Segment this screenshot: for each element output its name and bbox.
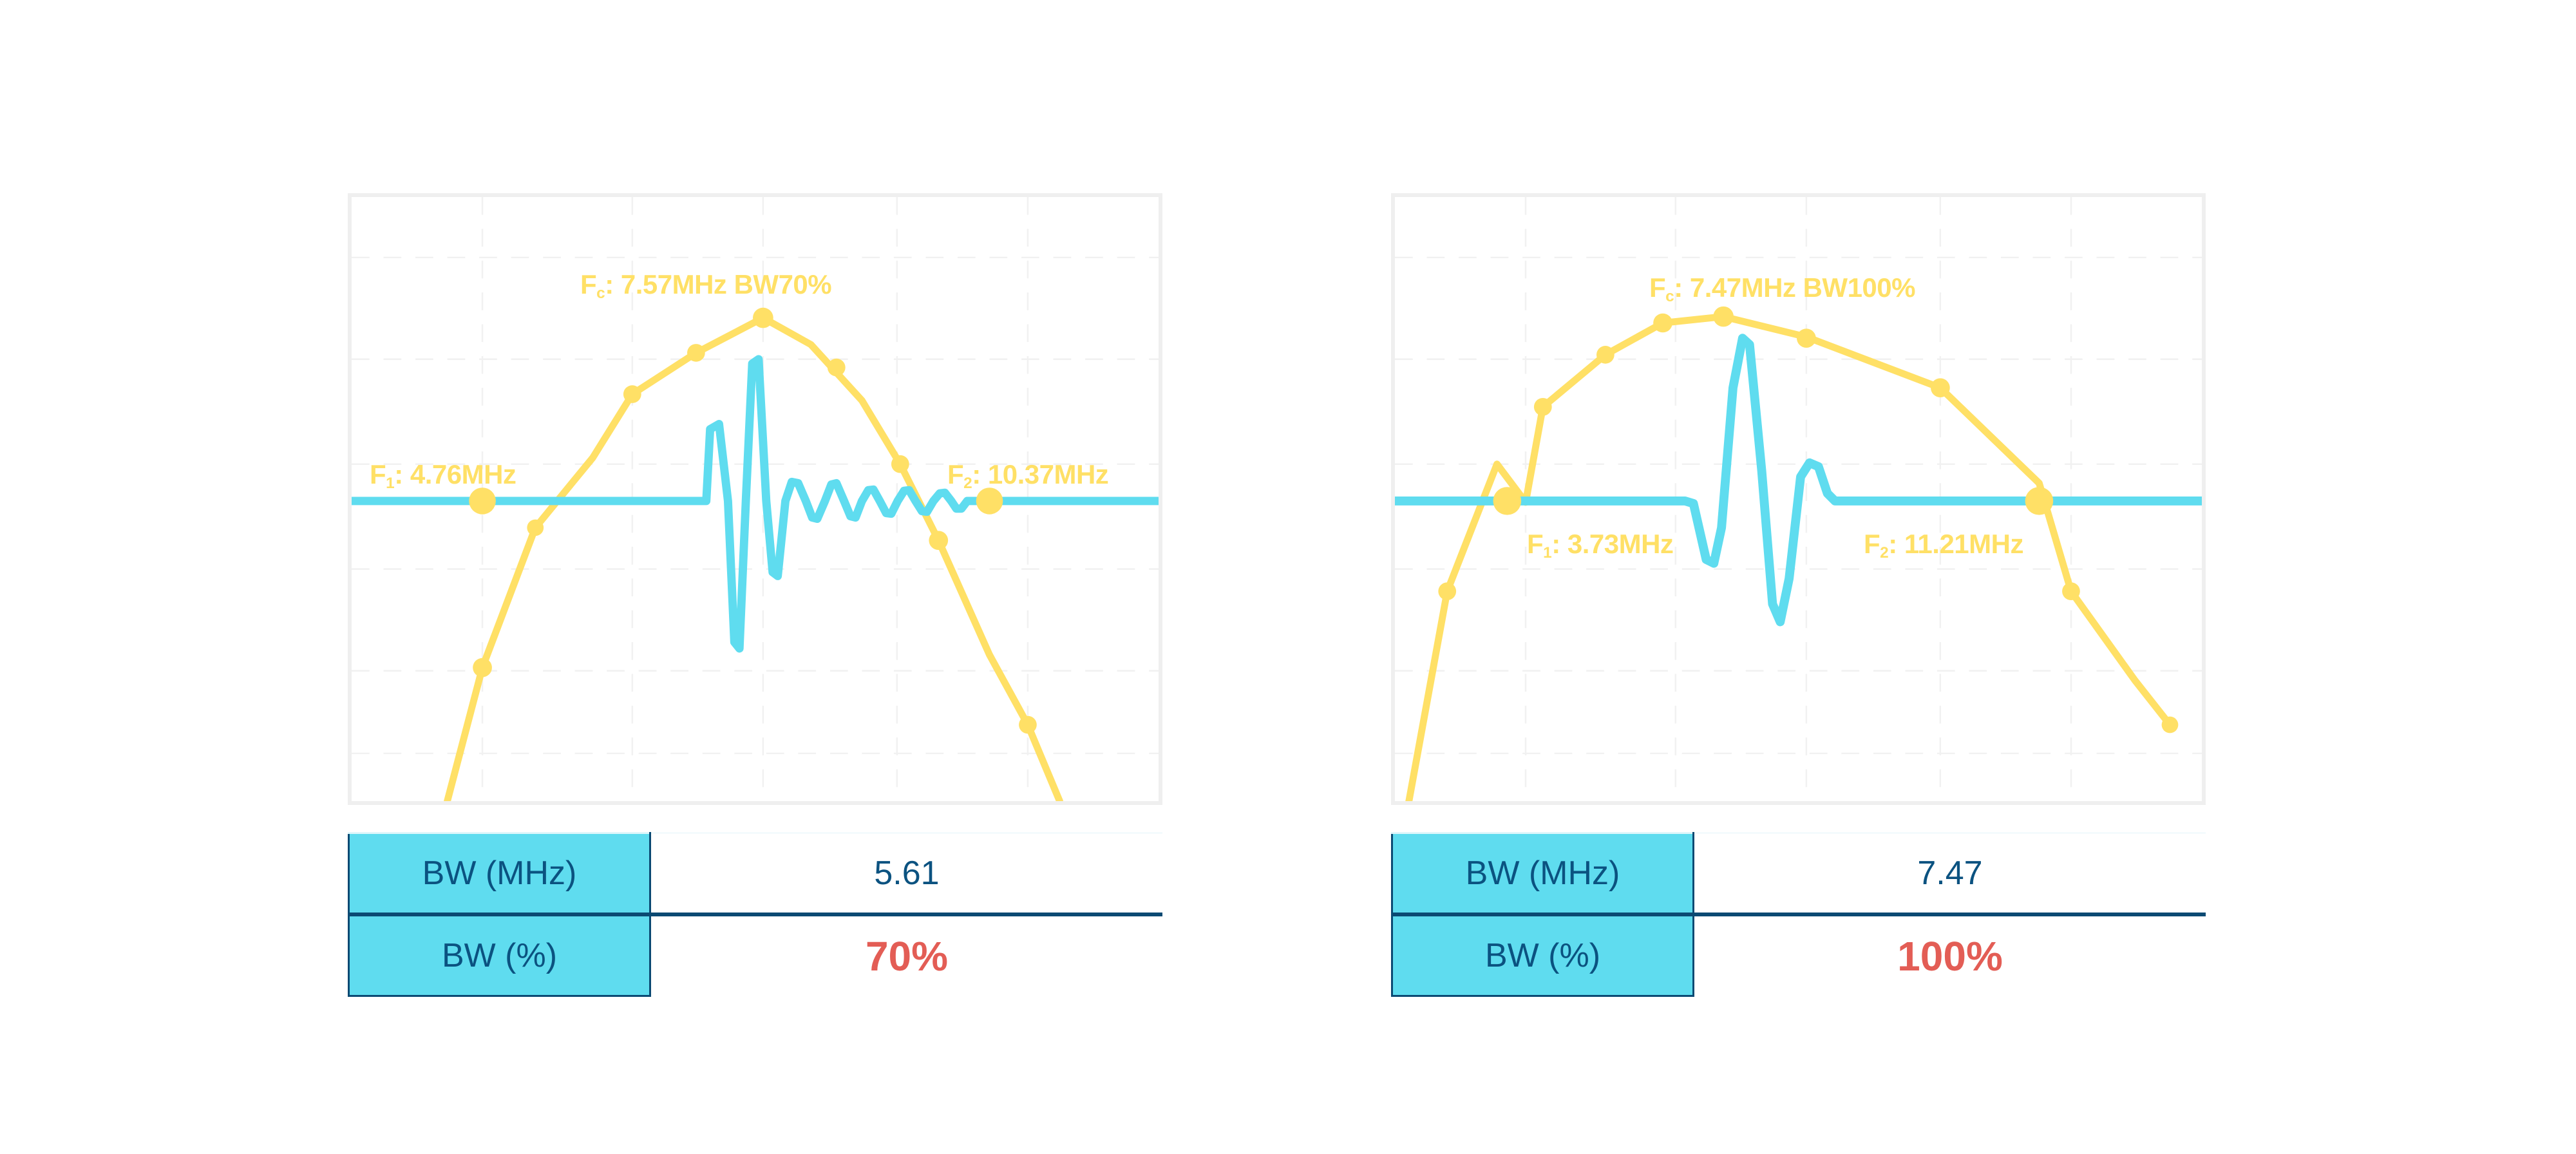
figure-canvas: Fc: 7.57MHz BW70% F1: 4.76MHz F2: 10.37M… bbox=[0, 0, 2576, 1154]
table-value-bw-mhz-left: 5.61 bbox=[650, 833, 1163, 915]
table-row: BW (MHz) 7.47 bbox=[1392, 833, 2206, 915]
table-value-bw-mhz-right: 7.47 bbox=[1694, 833, 2206, 915]
f1-node-right bbox=[1493, 487, 1522, 515]
table-row: BW (%) 100% bbox=[1392, 914, 2206, 996]
annotation-f2-sub-right: 2 bbox=[1880, 544, 1888, 562]
annotation-center-text-left: : 7.57MHz BW70% bbox=[605, 269, 831, 299]
annotation-center-sub-left: c bbox=[596, 285, 605, 302]
annotation-f1-text-right: : 3.73MHz bbox=[1551, 529, 1673, 559]
table-label-bw-mhz-left: BW (MHz) bbox=[349, 833, 650, 915]
annotation-center-prefix-left: F bbox=[580, 269, 596, 299]
annotation-f1-sub-left: 1 bbox=[386, 475, 394, 492]
annotation-f1-prefix-left: F bbox=[370, 459, 386, 489]
annotation-f2-prefix-right: F bbox=[1864, 529, 1880, 559]
annotation-center-frequency-right: Fc: 7.47MHz BW100% bbox=[1649, 274, 1915, 301]
annotation-f1-sub-right: 1 bbox=[1543, 544, 1551, 562]
table-value-bw-pct-left: 70% bbox=[650, 914, 1163, 996]
annotation-center-prefix-right: F bbox=[1649, 272, 1665, 303]
table-label-bw-pct-right: BW (%) bbox=[1392, 914, 1694, 996]
annotation-center-text-right: : 7.47MHz BW100% bbox=[1674, 272, 1915, 303]
f2-node-right bbox=[2025, 487, 2054, 515]
annotation-f2-text-right: : 11.21MHz bbox=[1888, 529, 2023, 559]
panel-right: Fc: 7.47MHz BW100% F1: 3.73MHz F2: 11.21… bbox=[1391, 193, 2206, 997]
table-label-bw-mhz-right: BW (MHz) bbox=[1392, 833, 1694, 915]
annotation-f2-sub-left: 2 bbox=[963, 475, 972, 492]
f2-node-left bbox=[976, 487, 1003, 514]
table-row: BW (MHz) 5.61 bbox=[349, 833, 1163, 915]
annotation-center-frequency-left: Fc: 7.57MHz BW70% bbox=[580, 271, 831, 298]
chart-frame-right: Fc: 7.47MHz BW100% F1: 3.73MHz F2: 11.21… bbox=[1391, 193, 2206, 805]
bandwidth-table-left: BW (MHz) 5.61 BW (%) 70% bbox=[348, 832, 1162, 997]
f1-node-left bbox=[469, 487, 496, 514]
table-value-bw-pct-right: 100% bbox=[1694, 914, 2206, 996]
table-label-bw-pct-left: BW (%) bbox=[349, 914, 650, 996]
annotation-f1-text-left: : 4.76MHz bbox=[394, 459, 516, 489]
table-row: BW (%) 70% bbox=[349, 914, 1163, 996]
annotation-f1-left: F1: 4.76MHz bbox=[370, 461, 516, 488]
annotation-f2-text-left: : 10.37MHz bbox=[972, 459, 1108, 489]
annotation-f1-prefix-right: F bbox=[1527, 529, 1543, 559]
panel-left: Fc: 7.57MHz BW70% F1: 4.76MHz F2: 10.37M… bbox=[348, 193, 1162, 997]
annotation-center-sub-right: c bbox=[1665, 288, 1674, 305]
bandwidth-table-right: BW (MHz) 7.47 BW (%) 100% bbox=[1391, 832, 2206, 997]
pulse-waveform-right bbox=[1395, 338, 2202, 621]
chart-frame-left: Fc: 7.57MHz BW70% F1: 4.76MHz F2: 10.37M… bbox=[348, 193, 1162, 805]
annotation-f1-right: F1: 3.73MHz bbox=[1527, 531, 1673, 558]
annotation-f2-prefix-left: F bbox=[947, 459, 963, 489]
annotation-f2-left: F2: 10.37MHz bbox=[947, 461, 1108, 488]
annotation-f2-right: F2: 11.21MHz bbox=[1864, 531, 2023, 558]
spectrum-markers-right bbox=[1438, 307, 2178, 733]
